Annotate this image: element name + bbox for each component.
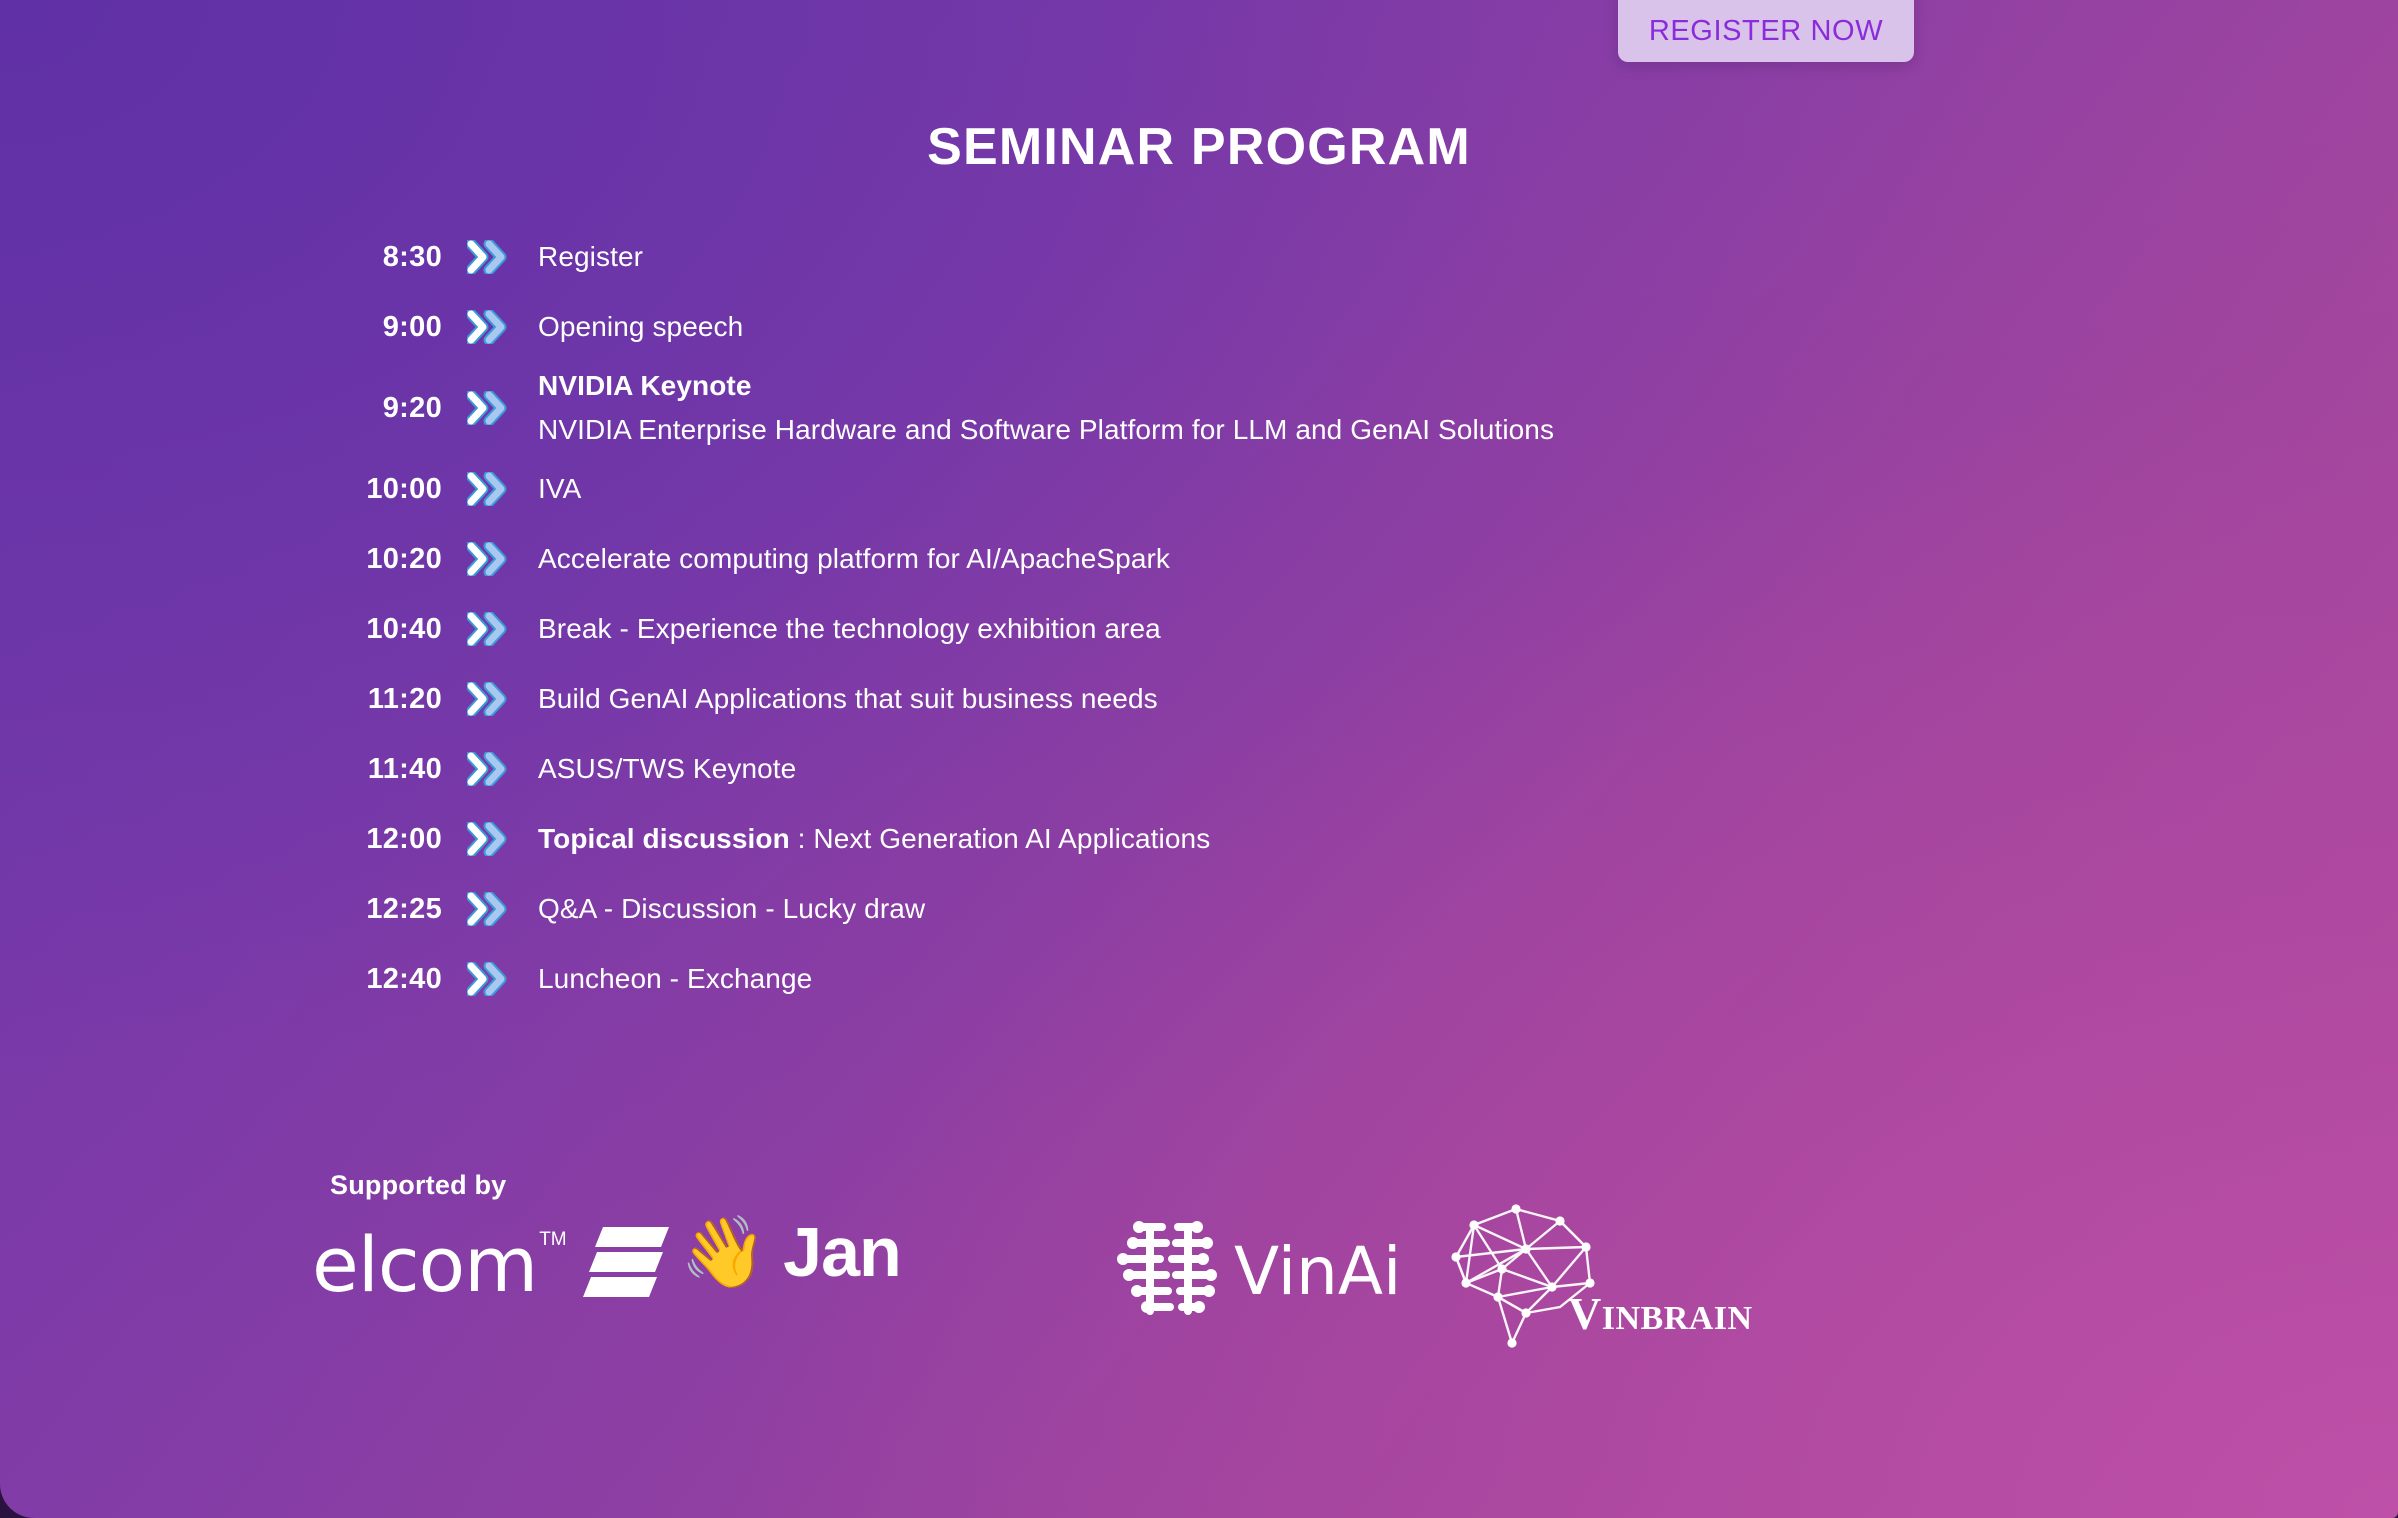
double-chevron-right-icon [442, 752, 538, 786]
double-chevron-right-icon [442, 310, 538, 344]
schedule-time: 11:40 [330, 753, 442, 786]
double-chevron-right-icon [442, 822, 538, 856]
schedule-row: 12:00 Topical discussion : Next Generati… [330, 804, 2030, 874]
schedule-time: 10:00 [330, 473, 442, 506]
sponsor-logo-row: elcom TM 👋 Jan [300, 1215, 2100, 1345]
double-chevron-right-icon [442, 962, 538, 996]
schedule-row: 11:20 Build GenAI Applications that suit… [330, 664, 2030, 734]
schedule-row: 8:30 Register [330, 222, 2030, 292]
schedule-time: 11:20 [330, 683, 442, 716]
elcom-wordmark: elcom [312, 1227, 537, 1303]
vinai-wordmark: VinAi [1234, 1239, 1401, 1305]
sponsor-logo-vinbrain[interactable]: VINBRAIN [1440, 1195, 1770, 1355]
double-chevron-right-icon [442, 542, 538, 576]
schedule-title-rest: : Next Generation AI Applications [790, 823, 1211, 854]
schedule-row: 10:40 Break - Experience the technology … [330, 594, 2030, 664]
schedule-title: Luncheon - Exchange [538, 959, 2030, 999]
sponsor-logo-jan[interactable]: 👋 Jan [680, 1217, 901, 1287]
schedule-time: 9:20 [330, 392, 442, 425]
double-chevron-right-icon [442, 682, 538, 716]
register-now-button[interactable]: REGISTER NOW [1618, 0, 1914, 62]
schedule-row: 9:00 Opening speech [330, 292, 2030, 362]
schedule-row: 10:00 IVA [330, 454, 2030, 524]
schedule-row: 10:20 Accelerate computing platform for … [330, 524, 2030, 594]
seminar-program-page: REGISTER NOW SEMINAR PROGRAM 8:30 Regist… [0, 0, 2398, 1518]
schedule-row: 9:20 NVIDIA Keynote NVIDIA Enterprise Ha… [330, 362, 2030, 454]
schedule-title: Opening speech [538, 307, 2030, 347]
schedule-row: 11:40 ASUS/TWS Keynote [330, 734, 2030, 804]
double-chevron-right-icon [442, 612, 538, 646]
schedule-time: 10:40 [330, 613, 442, 646]
page-title: SEMINAR PROGRAM [0, 117, 2398, 177]
schedule-title: Register [538, 237, 2030, 277]
schedule-title-block: Topical discussion : Next Generation AI … [538, 819, 2030, 859]
schedule-time: 10:20 [330, 543, 442, 576]
schedule-title-block: NVIDIA Keynote NVIDIA Enterprise Hardwar… [538, 366, 2030, 450]
vinbrain-initial: V [1568, 1288, 1602, 1339]
sponsor-logo-vinai[interactable]: VinAi [1110, 1217, 1401, 1326]
schedule-title: IVA [538, 469, 2030, 509]
vinbrain-rest: INBRAIN [1602, 1300, 1753, 1337]
trademark-symbol: TM [539, 1229, 566, 1251]
schedule-title: Topical discussion [538, 823, 790, 854]
schedule-title: Break - Experience the technology exhibi… [538, 609, 2030, 649]
schedule-row: 12:25 Q&A - Discussion - Lucky draw [330, 874, 2030, 944]
schedule-time: 9:00 [330, 311, 442, 344]
schedule-time: 12:25 [330, 893, 442, 926]
schedule-title: Build GenAI Applications that suit busin… [538, 679, 2030, 719]
supported-by-label: Supported by [330, 1170, 506, 1201]
schedule-title: ASUS/TWS Keynote [538, 749, 2030, 789]
schedule-title: Q&A - Discussion - Lucky draw [538, 889, 2030, 929]
schedule-row: 12:40 Luncheon - Exchange [330, 944, 2030, 1014]
double-chevron-right-icon [442, 892, 538, 926]
sponsor-logo-elcom[interactable]: elcom TM [312, 1223, 673, 1306]
schedule-title: Accelerate computing platform for AI/Apa… [538, 539, 2030, 579]
schedule-list: 8:30 Register 9:00 [330, 222, 2030, 1014]
double-chevron-right-icon [442, 391, 538, 425]
circuit-node-mark-icon [1110, 1217, 1218, 1326]
slanted-three-bar-e-mark-icon [581, 1223, 673, 1306]
schedule-time: 12:00 [330, 823, 442, 856]
jan-wordmark: Jan [783, 1217, 901, 1287]
waving-hand-icon: 👋 [680, 1217, 767, 1287]
schedule-subtitle: NVIDIA Enterprise Hardware and Software … [538, 410, 2030, 450]
vinbrain-wordmark: VINBRAIN [1568, 1287, 1753, 1340]
schedule-time: 12:40 [330, 963, 442, 996]
double-chevron-right-icon [442, 472, 538, 506]
schedule-time: 8:30 [330, 241, 442, 274]
double-chevron-right-icon [442, 240, 538, 274]
schedule-title: NVIDIA Keynote [538, 366, 2030, 406]
